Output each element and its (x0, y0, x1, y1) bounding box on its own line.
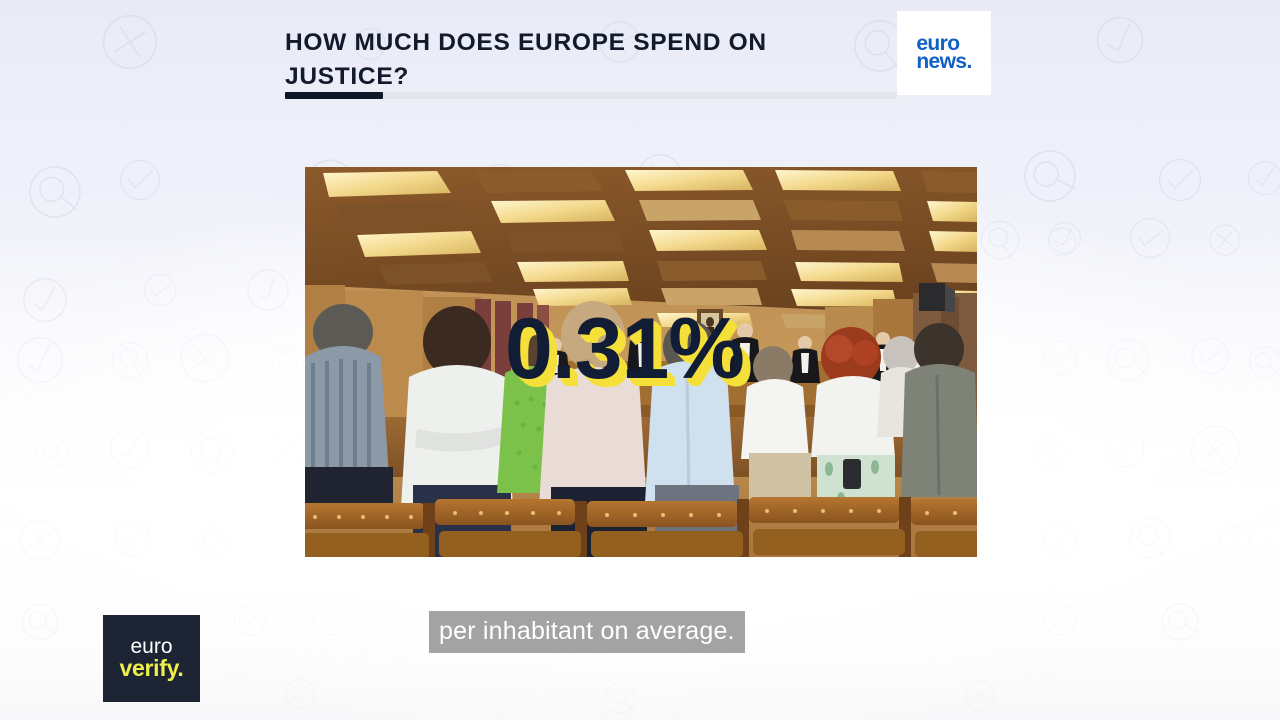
page-title-line-2: JUSTICE? (285, 60, 905, 94)
euronews-word-news-text: news (916, 50, 966, 73)
video-progress-fill (285, 92, 383, 99)
video-frame: HOW MUCH DOES EUROPE SPEND ON JUSTICE? e… (0, 0, 1280, 720)
euroverify-word-verify-text: verify (120, 655, 178, 681)
euroverify-dot: . (177, 655, 183, 681)
euroverify-logo: euro verify. (103, 615, 200, 702)
euroverify-word-verify: verify. (120, 658, 184, 680)
euronews-dot: . (966, 50, 971, 73)
euronews-wordmark: euro news. (916, 35, 971, 71)
courtroom-video-still[interactable] (305, 167, 977, 557)
euronews-word-news: news. (916, 53, 971, 71)
euroverify-word-euro: euro (130, 637, 172, 657)
page-title: HOW MUCH DOES EUROPE SPEND ON JUSTICE? (285, 26, 905, 94)
video-progress-track[interactable] (285, 92, 897, 99)
subtitle-caption: per inhabitant on average. (429, 611, 745, 653)
page-title-line-1: HOW MUCH DOES EUROPE SPEND ON (285, 26, 905, 60)
euronews-logo: euro news. (897, 11, 991, 95)
